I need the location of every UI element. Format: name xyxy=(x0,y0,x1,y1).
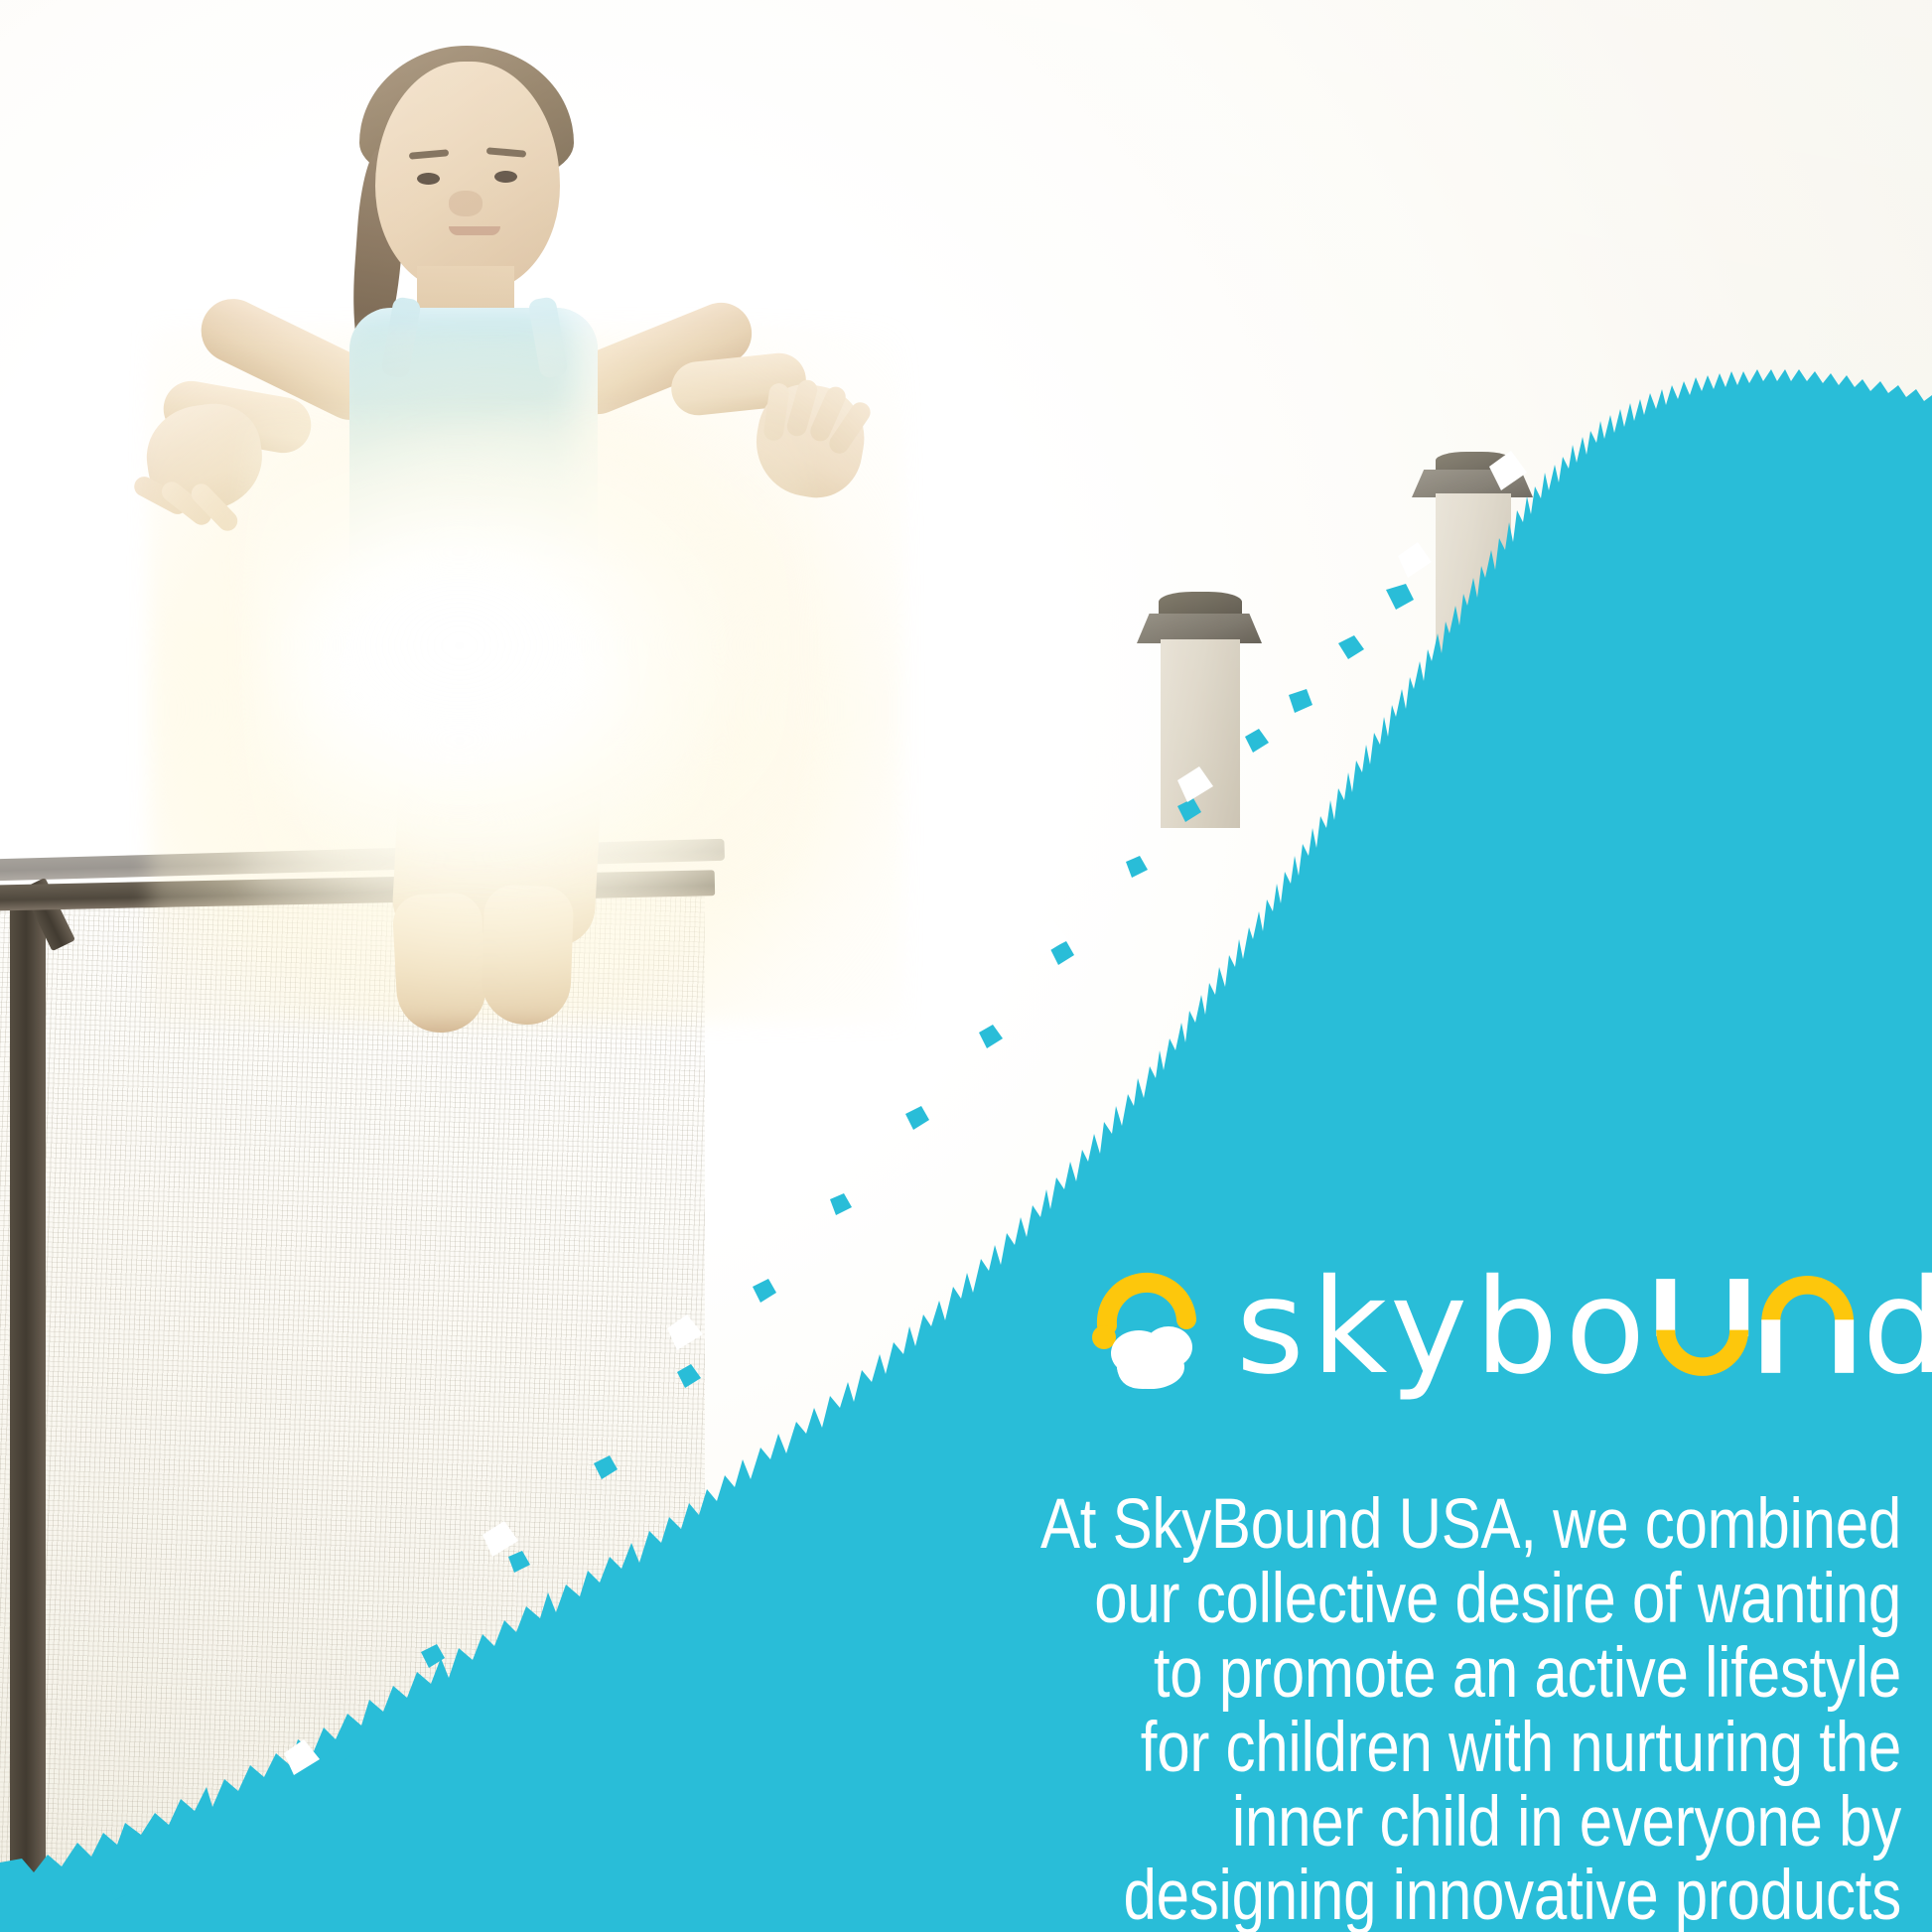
chimney-icon xyxy=(1135,592,1264,830)
brand-lockup: skybo d xyxy=(1087,1253,1911,1402)
head xyxy=(375,62,560,292)
eye xyxy=(417,173,440,185)
mouth xyxy=(449,226,500,235)
promo-graphic: skybo d At SkyBound USA, we combined our… xyxy=(0,0,1932,1932)
chimney-icon xyxy=(1410,452,1535,660)
sun-burst xyxy=(298,556,715,854)
wordmark-prefix: skybo xyxy=(1236,1262,1652,1393)
mission-statement: At SkyBound USA, we combined our collect… xyxy=(882,1488,1901,1932)
wordmark-u-letter xyxy=(1652,1270,1757,1372)
nose xyxy=(449,191,483,216)
wordmark-n-letter xyxy=(1757,1270,1863,1372)
sun-cloud-icon xyxy=(1087,1262,1210,1393)
wordmark-suffix: d xyxy=(1863,1262,1932,1393)
eye xyxy=(494,171,517,183)
skybound-wordmark: skybo d xyxy=(1236,1262,1932,1393)
